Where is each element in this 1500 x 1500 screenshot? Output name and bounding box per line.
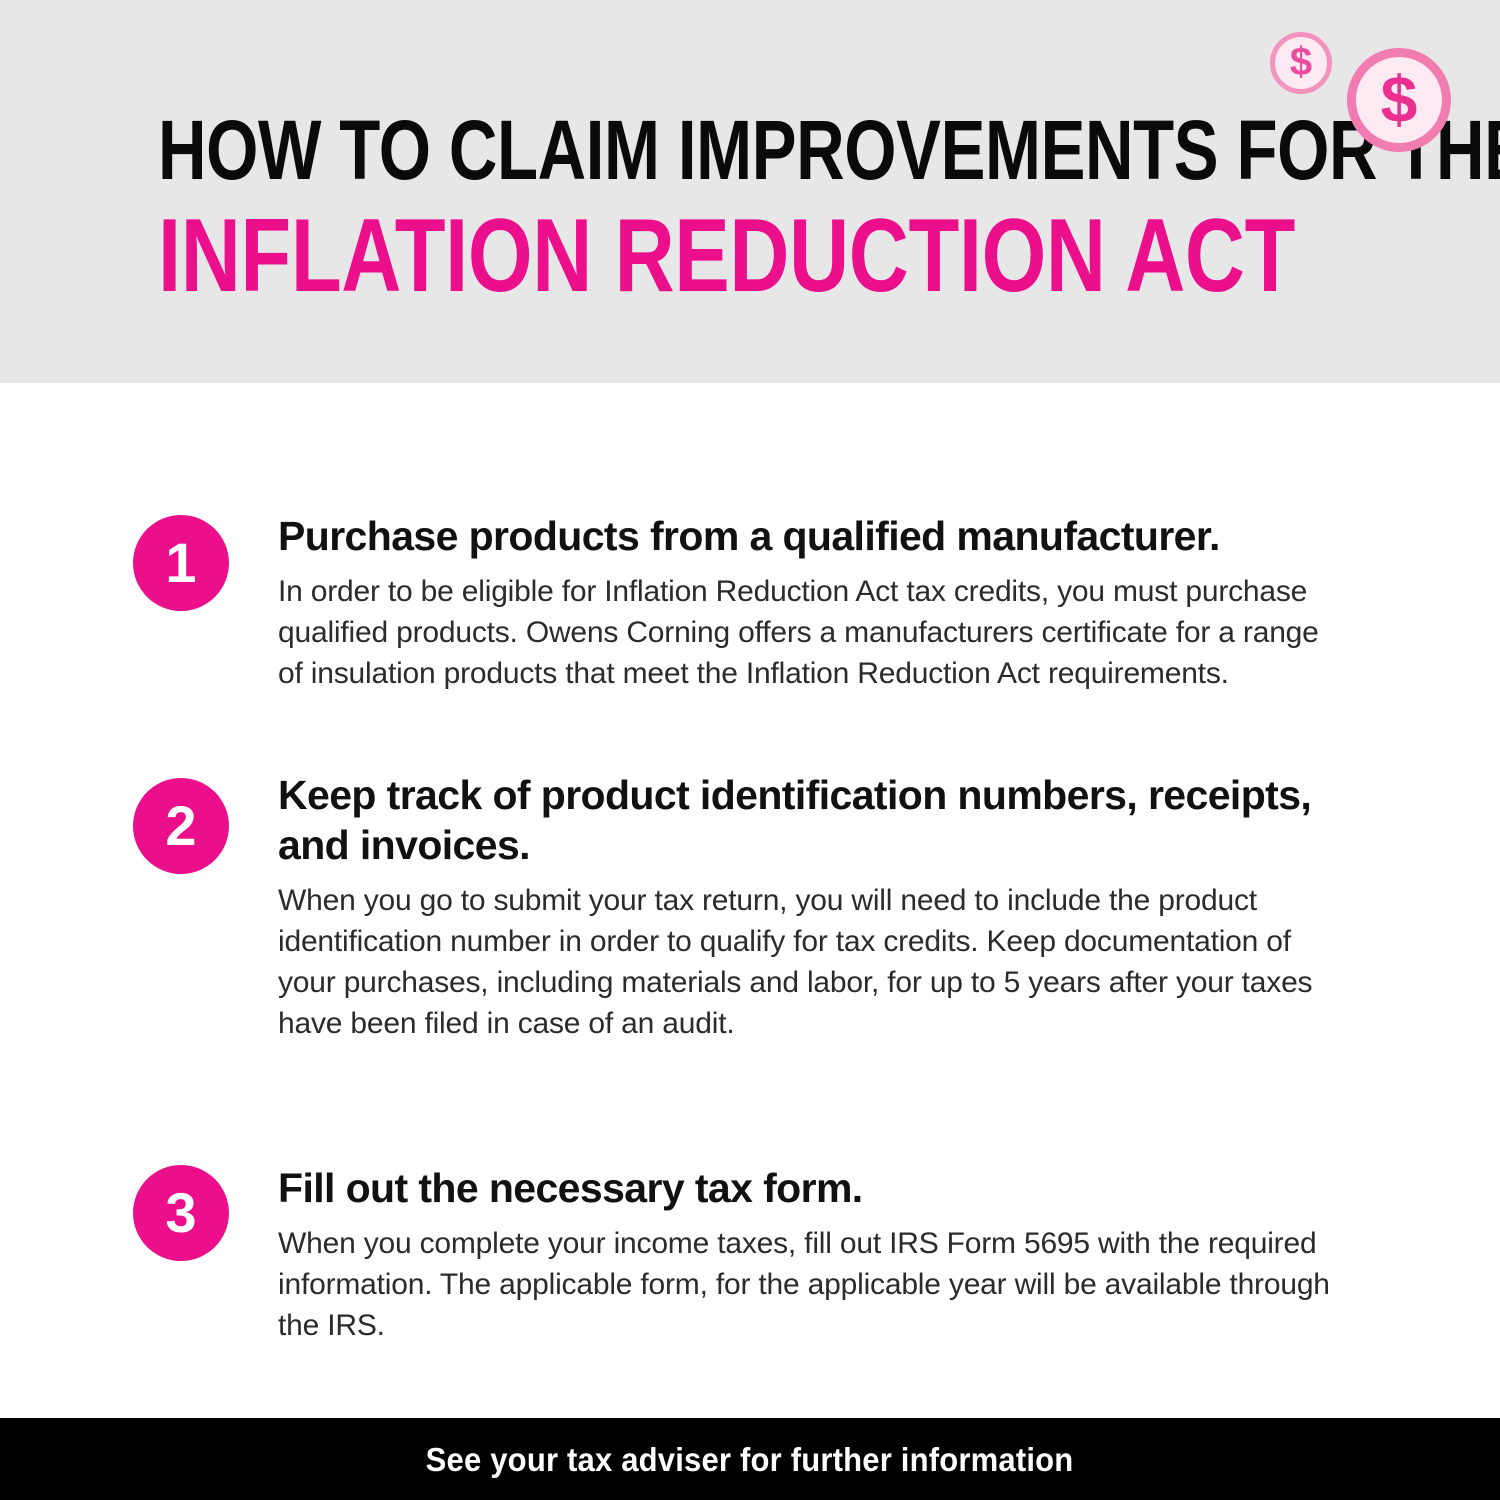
step-heading: Keep track of product identification num…	[278, 770, 1340, 870]
dollar-sign-glyph: $	[1381, 66, 1418, 132]
step-number-badge: 3	[133, 1165, 229, 1261]
step-content: Fill out the necessary tax form. When yo…	[278, 1163, 1340, 1346]
step-description: In order to be eligible for Inflation Re…	[278, 571, 1340, 694]
dollar-coin-large-icon: $	[1347, 48, 1451, 152]
step-number-badge: 1	[133, 515, 229, 611]
step-description: When you go to submit your tax return, y…	[278, 880, 1340, 1044]
step-heading: Purchase products from a qualified manuf…	[278, 511, 1340, 561]
step-heading: Fill out the necessary tax form.	[278, 1163, 1340, 1213]
step-content: Keep track of product identification num…	[278, 770, 1340, 1044]
step-content: Purchase products from a qualified manuf…	[278, 511, 1340, 694]
footer-disclaimer-text: See your tax adviser for further informa…	[426, 1443, 1074, 1476]
page-title: HOW TO CLAIM IMPROVEMENTS FOR THE INFLAT…	[158, 108, 1358, 308]
footer-bar: See your tax adviser for further informa…	[0, 1418, 1500, 1500]
title-line-accent: INFLATION REDUCTION ACT	[158, 204, 1118, 308]
step-description: When you complete your income taxes, fil…	[278, 1223, 1340, 1346]
dollar-coin-small-icon: $	[1270, 32, 1332, 94]
title-line-primary: HOW TO CLAIM IMPROVEMENTS FOR THE	[158, 108, 1118, 192]
infographic-page: HOW TO CLAIM IMPROVEMENTS FOR THE INFLAT…	[0, 0, 1500, 1500]
header-band: HOW TO CLAIM IMPROVEMENTS FOR THE INFLAT…	[0, 0, 1500, 383]
dollar-sign-glyph: $	[1290, 42, 1312, 82]
step-number-badge: 2	[133, 778, 229, 874]
